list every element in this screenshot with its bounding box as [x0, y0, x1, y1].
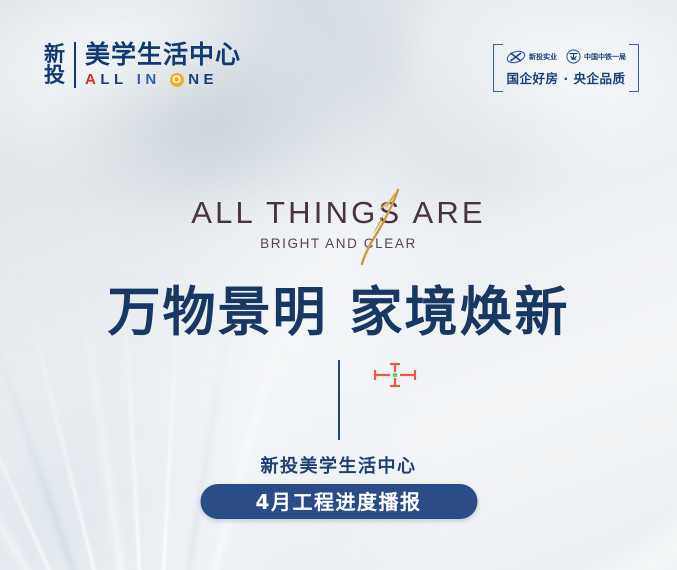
brand-main-name: 美学生活中心	[85, 42, 241, 68]
brand-wordmark: 美学生活中心 A L L I N O N E	[85, 42, 241, 88]
brand-square-mark: 新 投	[44, 44, 65, 86]
cobrand-partner-name-xintou: 新投实业	[529, 52, 557, 62]
brand-divider	[74, 42, 76, 88]
poster-header: 新 投 美学生活中心 A L L I N O N E	[0, 0, 677, 112]
red-crosshair-marker	[371, 361, 419, 389]
progress-report-button-label: 4月工程进度播报	[256, 492, 422, 512]
brand-tagline-letter-l1: L	[100, 71, 114, 88]
page-title-part2: 家境焕新	[350, 281, 570, 343]
china-railway-icon	[566, 49, 581, 64]
brand-tagline-letter-n2: N	[188, 71, 203, 88]
cobrand-partner-name-railway: 中国中铁一局	[584, 52, 626, 62]
cobrand-tagline: 国企好房 · 央企品质	[507, 68, 626, 87]
brand-tagline-letter-e: E	[204, 71, 219, 88]
brand-tagline-letter-a: A	[85, 71, 100, 88]
xintou-swoosh-icon	[506, 50, 526, 64]
brand-square-line1: 新	[44, 44, 65, 65]
page-title: 万物景明家境焕新	[0, 283, 677, 341]
brand-tagline-letter-n1: N	[145, 71, 160, 88]
brand-tagline: A L L I N O N E	[85, 71, 241, 88]
cobrand-partner-row: 新投实业 中国中铁一局	[506, 49, 626, 64]
vertical-divider	[338, 360, 340, 440]
cobrand-partner-xintou: 新投实业	[506, 50, 557, 64]
background-bottom-glow	[0, 310, 400, 570]
english-title: ALL THINGS ARE	[0, 196, 677, 230]
brand-tagline-letter-i: I	[137, 71, 146, 88]
poster-canvas: 新 投 美学生活中心 A L L I N O N E	[0, 0, 677, 570]
english-subtitle: BRIGHT AND CLEAR	[0, 236, 677, 251]
brand-logo[interactable]: 新 投 美学生活中心 A L L I N O N E	[44, 42, 241, 88]
cobrand-partner-railway: 中国中铁一局	[566, 49, 626, 64]
page-title-part1: 万物景明	[108, 281, 328, 343]
brand-tagline-letter-o: O	[170, 73, 184, 87]
brand-square-line2: 投	[44, 65, 65, 86]
progress-report-button[interactable]: 4月工程进度播报	[200, 484, 477, 519]
project-name: 新投美学生活中心	[0, 452, 677, 478]
cobrand-badge: 新投实业 中国中铁一局 国企好房 · 央企品质	[493, 44, 639, 92]
brand-tagline-letter-l2: L	[114, 71, 128, 88]
english-title-block: ALL THINGS ARE BRIGHT AND CLEAR	[0, 196, 677, 251]
